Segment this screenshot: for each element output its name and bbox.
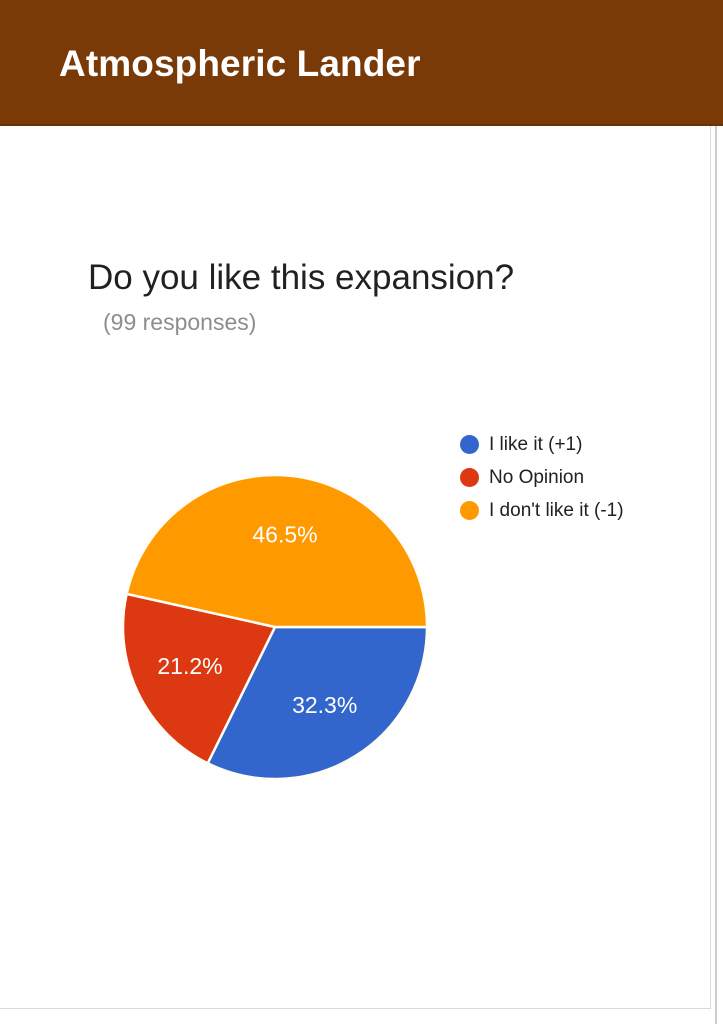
legend-item-label: I don't like it (-1) — [489, 498, 624, 524]
legend-item[interactable]: I like it (+1) — [460, 432, 640, 458]
page-gutter — [711, 126, 723, 1024]
legend-color-swatch-icon — [460, 468, 479, 487]
pie-slice-value-label: 21.2% — [157, 653, 222, 679]
pie-slice-value-label: 46.5% — [252, 521, 317, 547]
scrollbar-track[interactable] — [715, 126, 717, 1024]
page-title: Atmospheric Lander — [59, 41, 421, 87]
legend-item-label: I like it (+1) — [489, 432, 582, 458]
pie-chart[interactable]: 32.3%21.2%46.5% — [110, 475, 450, 795]
legend-item[interactable]: I don't like it (-1) — [460, 498, 640, 524]
chart-legend: I like it (+1)No OpinionI don't like it … — [460, 432, 640, 531]
legend-color-swatch-icon — [460, 435, 479, 454]
legend-item[interactable]: No Opinion — [460, 465, 640, 491]
legend-color-swatch-icon — [460, 501, 479, 520]
question-title: Do you like this expansion? — [88, 256, 514, 300]
pie-slice-value-label: 32.3% — [292, 692, 357, 718]
form-header-bar: Atmospheric Lander — [0, 0, 723, 126]
legend-item-label: No Opinion — [489, 465, 584, 491]
pie-chart-container: 32.3%21.2%46.5% I like it (+1)No Opinion… — [0, 380, 711, 840]
form-response-page: Atmospheric Lander Do you like this expa… — [0, 0, 723, 1024]
response-count-label: (99 responses) — [103, 307, 256, 337]
pie-slice[interactable] — [127, 475, 427, 627]
